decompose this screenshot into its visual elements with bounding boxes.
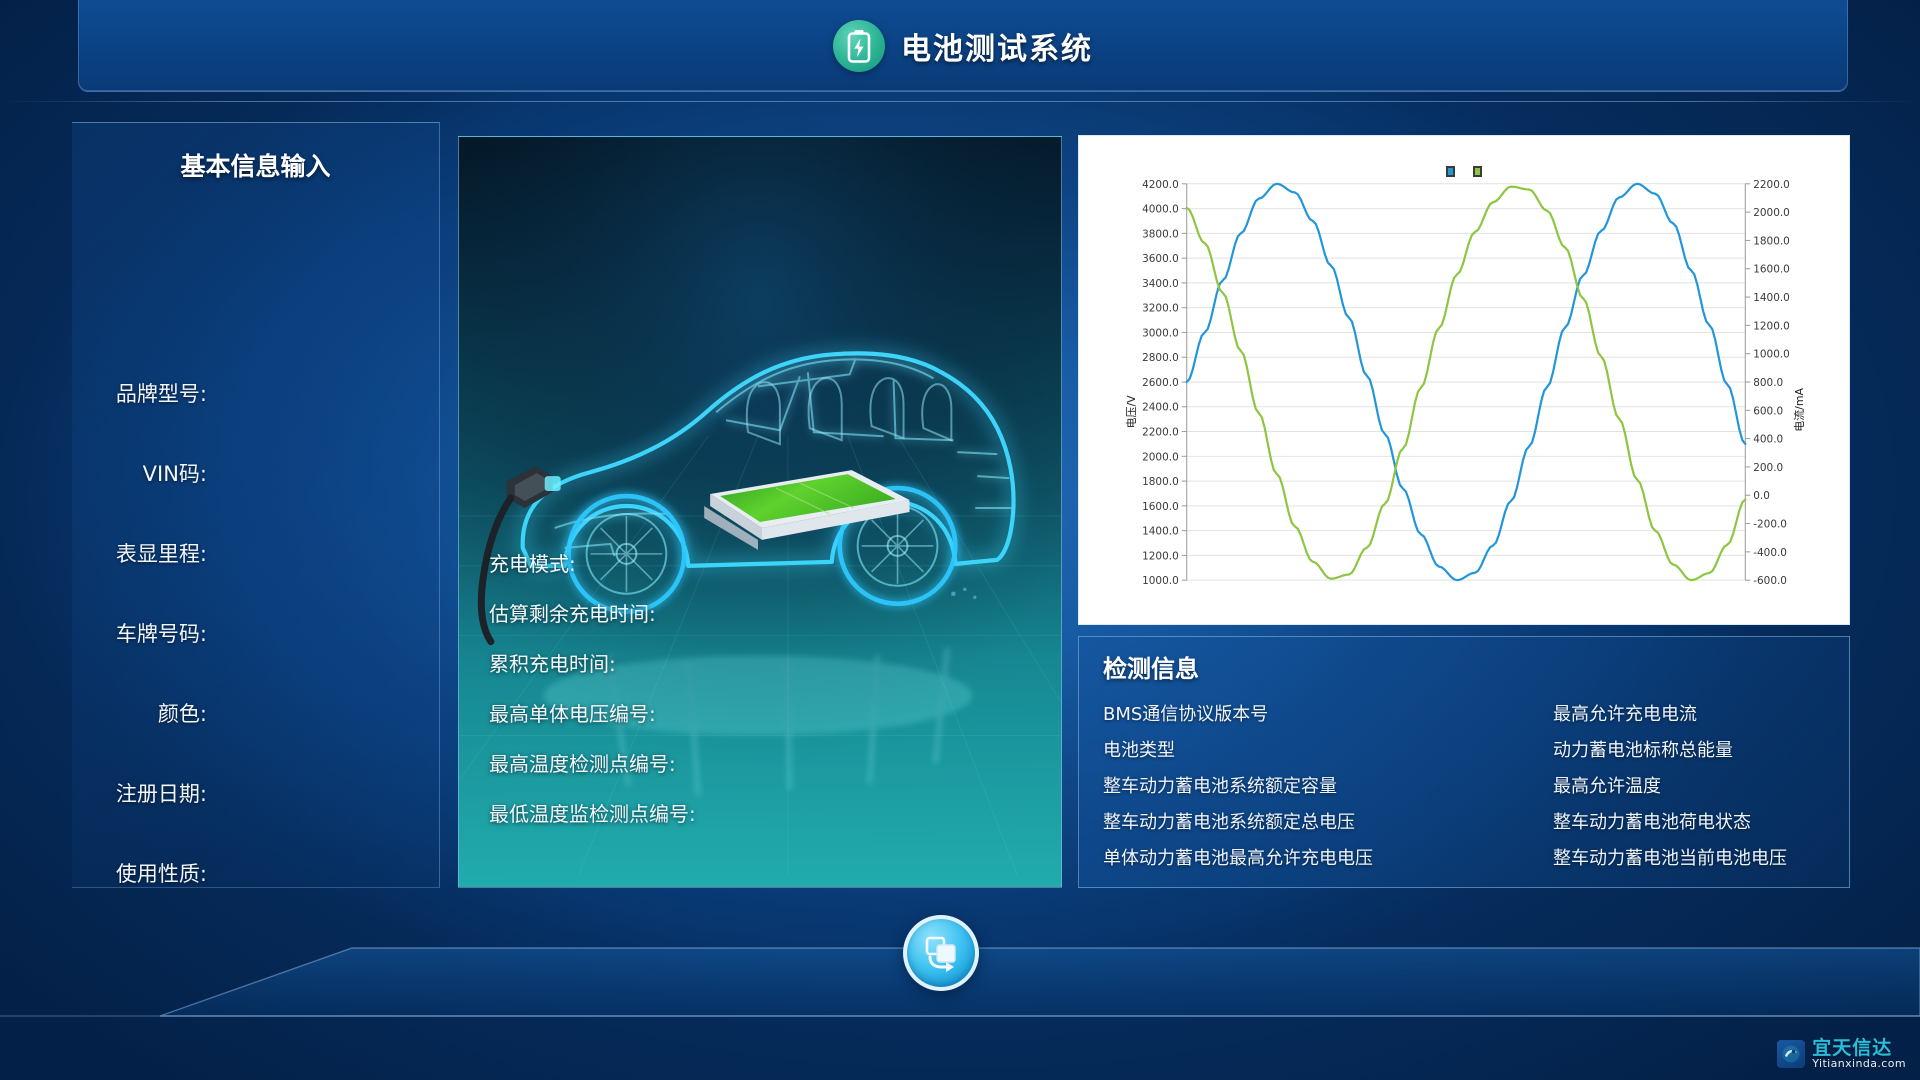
svg-text:-200.0: -200.0	[1753, 519, 1787, 531]
info-item-state-of-charge[interactable]: 整车动力蓄电池荷电状态	[1553, 803, 1831, 839]
svg-text:2000.0: 2000.0	[1142, 451, 1179, 463]
field-row-plate-number[interactable]: 车牌号码:	[72, 593, 439, 673]
svg-text:-400.0: -400.0	[1753, 547, 1787, 559]
svg-text:600.0: 600.0	[1753, 405, 1783, 417]
info-item-max-charge-current[interactable]: 最高允许充电电流	[1553, 695, 1831, 731]
field-row-brand-model[interactable]: 品牌型号:	[72, 353, 439, 433]
field-row-accumulated-charge-time[interactable]: 累积充电时间:	[489, 637, 1049, 687]
voltage-current-chart-panel: 4200.04000.03800.03600.03400.03200.03000…	[1078, 135, 1850, 625]
svg-text:2600.0: 2600.0	[1142, 377, 1179, 389]
detection-info-right-column: 最高允许充电电流 动力蓄电池标称总能量 最高允许温度 整车动力蓄电池荷电状态 整…	[1467, 695, 1831, 875]
svg-text:1800.0: 1800.0	[1753, 235, 1790, 247]
field-row-max-temp-probe-number[interactable]: 最高温度检测点编号:	[489, 737, 1049, 787]
svg-text:3400.0: 3400.0	[1142, 278, 1179, 290]
svg-text:3800.0: 3800.0	[1142, 228, 1179, 240]
svg-text:2200.0: 2200.0	[1753, 179, 1790, 191]
svg-text:1000.0: 1000.0	[1142, 575, 1179, 587]
field-row-estimated-remaining-time[interactable]: 估算剩余充电时间:	[489, 587, 1049, 637]
field-row-usage-type[interactable]: 使用性质:	[72, 833, 439, 913]
field-row-registration-date[interactable]: 注册日期:	[72, 753, 439, 833]
svg-text:1000.0: 1000.0	[1753, 349, 1790, 361]
battery-bolt-icon	[833, 20, 885, 72]
info-item-rated-total-voltage[interactable]: 整车动力蓄电池系统额定总电压	[1103, 803, 1467, 839]
watermark-cn: 宜天信达	[1812, 1039, 1906, 1059]
field-row-max-cell-voltage-number[interactable]: 最高单体电压编号:	[489, 687, 1049, 737]
svg-text:3000.0: 3000.0	[1142, 327, 1179, 339]
info-item-cell-max-charge-voltage[interactable]: 单体动力蓄电池最高允许充电电压	[1103, 839, 1467, 875]
svg-text:3600.0: 3600.0	[1142, 253, 1179, 265]
field-label-plate-number: 车牌号码:	[116, 618, 207, 648]
watermark-logo-icon	[1777, 1040, 1805, 1068]
svg-text:2200.0: 2200.0	[1142, 427, 1179, 439]
field-label-color: 颜色:	[158, 698, 207, 728]
field-label-vin: VIN码:	[143, 458, 207, 488]
field-label-accumulated-charge-time: 累积充电时间:	[489, 648, 616, 677]
field-row-color[interactable]: 颜色:	[72, 673, 439, 753]
watermark: 宜天信达 Yitianxinda.com	[1777, 1039, 1906, 1070]
watermark-en: Yitianxinda.com	[1812, 1058, 1906, 1070]
app-title: 电池测试系统	[901, 24, 1093, 68]
field-label-estimated-remaining-time: 估算剩余充电时间:	[489, 598, 656, 627]
info-item-max-allowed-temperature[interactable]: 最高允许温度	[1553, 767, 1831, 803]
svg-text:4000.0: 4000.0	[1142, 204, 1179, 216]
field-label-charge-mode: 充电模式:	[489, 548, 576, 577]
svg-text:1800.0: 1800.0	[1142, 476, 1179, 488]
app-header: 电池测试系统	[78, 0, 1848, 92]
field-row-charge-mode[interactable]: 充电模式:	[489, 537, 1049, 587]
basic-info-title: 基本信息输入	[72, 147, 439, 183]
detection-info-columns: BMS通信协议版本号 电池类型 整车动力蓄电池系统额定容量 整车动力蓄电池系统额…	[1103, 695, 1831, 875]
field-label-min-temp-probe-number: 最低温度监检测点编号:	[489, 798, 696, 827]
field-label-registration-date: 注册日期:	[116, 778, 207, 808]
vehicle-visual-panel: 充电模式: 估算剩余充电时间: 累积充电时间: 最高单体电压编号: 最高温度检测…	[458, 136, 1062, 888]
switch-view-button[interactable]	[903, 915, 979, 991]
basic-info-field-list: 品牌型号: VIN码: 表显里程: 车牌号码: 颜色: 注册日期: 使用性质:	[72, 353, 439, 913]
svg-text:电流/mA: 电流/mA	[1792, 388, 1806, 432]
info-item-nominal-total-energy[interactable]: 动力蓄电池标称总能量	[1553, 731, 1831, 767]
field-row-min-temp-probe-number[interactable]: 最低温度监检测点编号:	[489, 787, 1049, 837]
detection-info-title: 检测信息	[1103, 649, 1199, 684]
svg-text:1600.0: 1600.0	[1753, 264, 1790, 276]
svg-text:1200.0: 1200.0	[1753, 320, 1790, 332]
svg-text:0.0: 0.0	[1753, 490, 1770, 502]
info-item-current-battery-voltage[interactable]: 整车动力蓄电池当前电池电压	[1553, 839, 1831, 875]
svg-text:3200.0: 3200.0	[1142, 303, 1179, 315]
svg-text:电压/V: 电压/V	[1125, 395, 1138, 429]
chart-plot-area: 4200.04000.03800.03600.03400.03200.03000…	[1079, 136, 1849, 624]
charging-status-field-list: 充电模式: 估算剩余充电时间: 累积充电时间: 最高单体电压编号: 最高温度检测…	[489, 537, 1049, 837]
svg-text:2400.0: 2400.0	[1142, 402, 1179, 414]
svg-text:1200.0: 1200.0	[1142, 550, 1179, 562]
field-label-max-temp-probe-number: 最高温度检测点编号:	[489, 748, 676, 777]
field-label-max-cell-voltage-number: 最高单体电压编号:	[489, 698, 656, 727]
svg-text:400.0: 400.0	[1753, 434, 1783, 446]
svg-text:1400.0: 1400.0	[1753, 292, 1790, 304]
basic-info-panel: 基本信息输入 品牌型号: VIN码: 表显里程: 车牌号码: 颜色: 注册日期:…	[72, 122, 440, 888]
field-row-mileage[interactable]: 表显里程:	[72, 513, 439, 593]
svg-text:-600.0: -600.0	[1753, 575, 1787, 587]
info-item-bms-protocol-version[interactable]: BMS通信协议版本号	[1103, 695, 1467, 731]
info-item-rated-capacity[interactable]: 整车动力蓄电池系统额定容量	[1103, 767, 1467, 803]
detection-info-panel: 检测信息 BMS通信协议版本号 电池类型 整车动力蓄电池系统额定容量 整车动力蓄…	[1078, 636, 1850, 888]
field-label-mileage: 表显里程:	[116, 538, 207, 568]
svg-text:200.0: 200.0	[1753, 462, 1783, 474]
svg-text:2800.0: 2800.0	[1142, 352, 1179, 364]
info-item-battery-type[interactable]: 电池类型	[1103, 731, 1467, 767]
app-header-inner: 电池测试系统	[79, 0, 1847, 91]
field-row-vin[interactable]: VIN码:	[72, 433, 439, 513]
svg-text:800.0: 800.0	[1753, 377, 1783, 389]
field-label-usage-type: 使用性质:	[116, 858, 207, 888]
svg-text:4200.0: 4200.0	[1142, 179, 1179, 191]
header-divider	[0, 101, 1920, 102]
svg-text:1400.0: 1400.0	[1142, 526, 1179, 538]
watermark-text: 宜天信达 Yitianxinda.com	[1812, 1039, 1906, 1070]
svg-text:1600.0: 1600.0	[1142, 501, 1179, 513]
svg-text:2000.0: 2000.0	[1753, 207, 1790, 219]
field-label-brand-model: 品牌型号:	[116, 378, 207, 408]
detection-info-left-column: BMS通信协议版本号 电池类型 整车动力蓄电池系统额定容量 整车动力蓄电池系统额…	[1103, 695, 1467, 875]
